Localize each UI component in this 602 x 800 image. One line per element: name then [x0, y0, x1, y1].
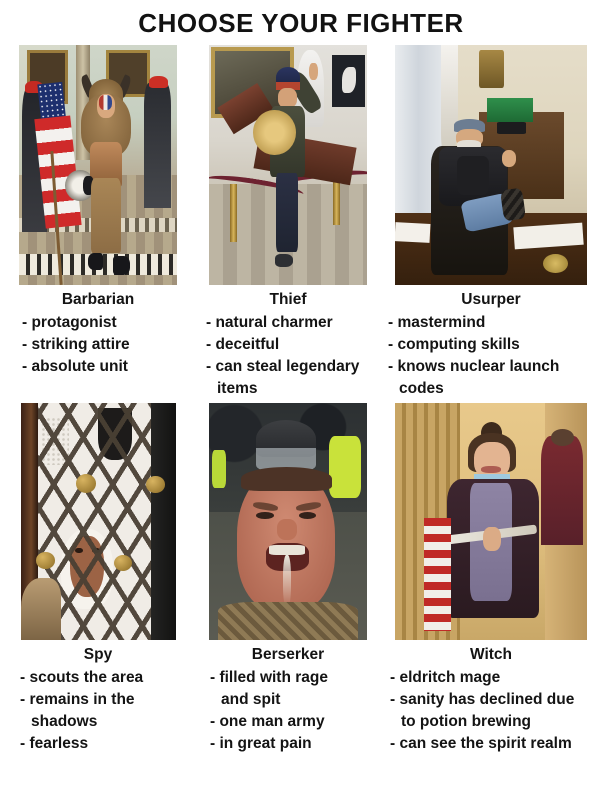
- trait-item: - in great pain: [210, 733, 376, 754]
- trait-item: - remains in the: [20, 689, 192, 710]
- witch-photo-wrap: [380, 403, 602, 640]
- trait-item: - scouts the area: [20, 667, 192, 688]
- berserker-photo-wrap: [196, 403, 380, 640]
- fighter-traits-berserker: - filled with rage and spit - one man ar…: [196, 667, 380, 754]
- trait-item: - fearless: [20, 733, 192, 754]
- trait-item: - protagonist: [22, 312, 190, 333]
- fighter-traits-barbarian: - protagonist - striking attire - absolu…: [0, 312, 196, 377]
- fighter-grid: Barbarian - protagonist - striking attir…: [0, 45, 602, 755]
- fighter-traits-witch: - eldritch mage - sanity has declined du…: [380, 667, 602, 754]
- trait-item-continuation: items: [206, 378, 376, 399]
- thief-photo-wrap: [196, 45, 380, 285]
- barbarian-photo: [19, 45, 177, 285]
- trait-item: - sanity has declined due: [390, 689, 600, 710]
- fighter-traits-usurper: - mastermind - computing skills - knows …: [380, 312, 602, 399]
- fighter-name-spy: Spy: [0, 645, 196, 665]
- trait-item-continuation: and spit: [210, 689, 376, 710]
- spy-photo: [21, 403, 176, 640]
- trait-item: - deceitful: [206, 334, 376, 355]
- usurper-photo-wrap: [380, 45, 602, 285]
- usurper-photo: [395, 45, 587, 285]
- choose-your-fighter-meme: CHOOSE YOUR FIGHTER: [0, 0, 602, 800]
- fighter-card-barbarian: Barbarian - protagonist - striking attir…: [0, 45, 196, 378]
- spy-photo-wrap: [0, 403, 196, 640]
- fighter-name-witch: Witch: [380, 645, 602, 665]
- trait-item: - natural charmer: [206, 312, 376, 333]
- trait-item-continuation: to potion brewing: [390, 711, 600, 732]
- fighter-traits-thief: - natural charmer - deceitful - can stea…: [196, 312, 380, 399]
- fighter-card-witch: Witch - eldritch mage - sanity has decli…: [380, 403, 602, 755]
- fighter-name-usurper: Usurper: [380, 290, 602, 310]
- trait-item-continuation: codes: [388, 378, 600, 399]
- fighter-traits-spy: - scouts the area - remains in the shado…: [0, 667, 196, 754]
- trait-item: - can steal legendary: [206, 356, 376, 377]
- trait-item: - filled with rage: [210, 667, 376, 688]
- fighter-name-berserker: Berserker: [196, 645, 380, 665]
- fighter-name-thief: Thief: [196, 290, 380, 310]
- witch-photo: [395, 403, 587, 640]
- fighter-row-1: Barbarian - protagonist - striking attir…: [0, 45, 602, 400]
- trait-item: - one man army: [210, 711, 376, 732]
- trait-item: - can see the spirit realm: [390, 733, 600, 754]
- fighter-name-barbarian: Barbarian: [0, 290, 196, 310]
- trait-item: - eldritch mage: [390, 667, 600, 688]
- trait-item: - computing skills: [388, 334, 600, 355]
- trait-item: - absolute unit: [22, 356, 190, 377]
- page-title: CHOOSE YOUR FIGHTER: [0, 0, 602, 38]
- trait-item: - knows nuclear launch: [388, 356, 600, 377]
- barbarian-photo-wrap: [0, 45, 196, 285]
- fighter-card-thief: Thief - natural charmer - deceitful - ca…: [196, 45, 380, 400]
- trait-item: - mastermind: [388, 312, 600, 333]
- thief-photo: [209, 45, 367, 285]
- fighter-card-usurper: Usurper - mastermind - computing skills …: [380, 45, 602, 400]
- berserker-photo: [209, 403, 367, 640]
- fighter-card-spy: Spy - scouts the area - remains in the s…: [0, 403, 196, 755]
- fighter-card-berserker: Berserker - filled with rage and spit - …: [196, 403, 380, 755]
- trait-item-continuation: shadows: [20, 711, 192, 732]
- trait-item: - striking attire: [22, 334, 190, 355]
- fighter-row-2: Spy - scouts the area - remains in the s…: [0, 403, 602, 755]
